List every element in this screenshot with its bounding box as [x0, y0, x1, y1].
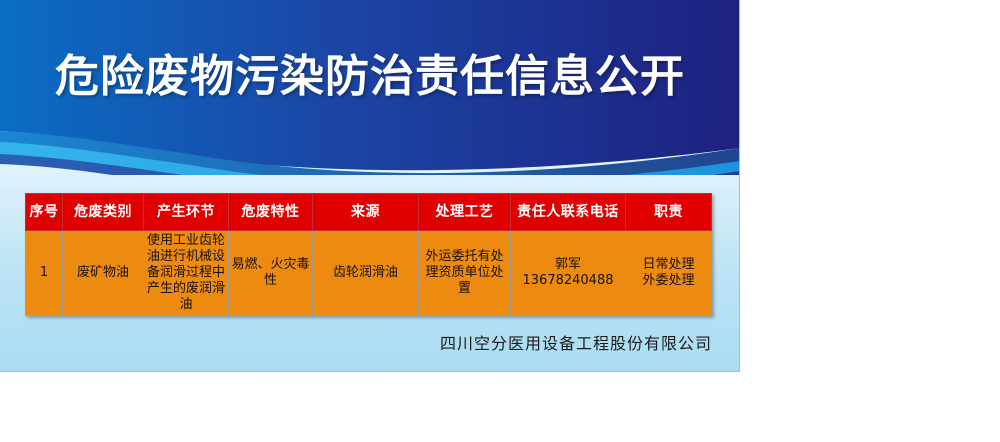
cell-process: 外运委托有处理资质单位处置: [419, 231, 511, 316]
duty-line-1: 日常处理: [628, 257, 709, 273]
column-header-stage: 产生环节: [144, 194, 229, 231]
cell-stage: 使用工业齿轮油进行机械设备润滑过程中产生的废润滑油: [144, 231, 229, 316]
cell-source: 齿轮润滑油: [313, 231, 419, 316]
cell-category: 废矿物油: [63, 231, 144, 316]
cell-characteristic: 易燃、火灾毒性: [229, 231, 313, 316]
column-header-contact: 责任人联系电话: [511, 194, 626, 231]
poster-banner: 危险废物污染防治责任信息公开: [0, 0, 740, 175]
cell-contact: 郭军 13678240488: [511, 231, 626, 316]
duty-line-2: 外委处理: [628, 273, 709, 289]
column-header-source: 来源: [313, 194, 419, 231]
table-row: 1 废矿物油 使用工业齿轮油进行机械设备润滑过程中产生的废润滑油 易燃、火灾毒性…: [26, 231, 712, 316]
company-name: 四川空分医用设备工程股份有限公司: [0, 330, 712, 354]
cell-seq: 1: [26, 231, 63, 316]
contact-name: 郭军: [513, 257, 623, 273]
contact-phone: 13678240488: [513, 273, 623, 289]
table-header-row: 序号 危废类别 产生环节 危废特性 来源 处理工艺 责任人联系电话 职责: [26, 194, 712, 231]
cell-duty: 日常处理 外委处理: [626, 231, 712, 316]
information-disclosure-poster: 危险废物污染防治责任信息公开 序号 危废类别 产生环节 危废特性 来源 处理工艺…: [0, 0, 740, 372]
column-header-process: 处理工艺: [419, 194, 511, 231]
column-header-characteristic: 危废特性: [229, 194, 313, 231]
column-header-category: 危废类别: [63, 194, 144, 231]
column-header-duty: 职责: [626, 194, 712, 231]
page-title: 危险废物污染防治责任信息公开: [0, 52, 740, 102]
column-header-seq: 序号: [26, 194, 63, 231]
hazardous-waste-table: 序号 危废类别 产生环节 危废特性 来源 处理工艺 责任人联系电话 职责 1 废…: [25, 193, 712, 316]
